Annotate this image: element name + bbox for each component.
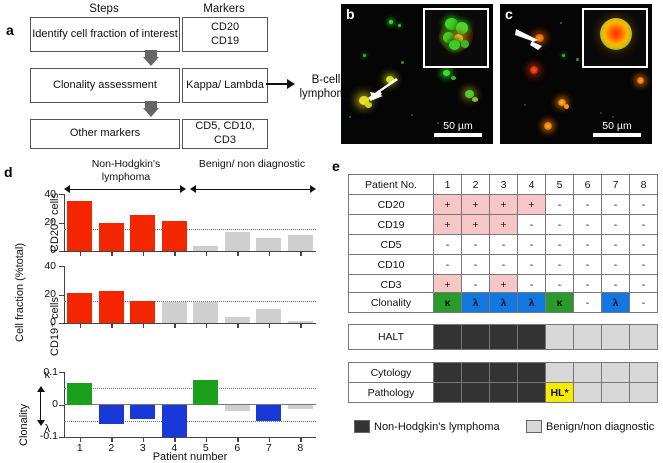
cytology-row-label: Cytology bbox=[349, 363, 434, 383]
marker-cell: - bbox=[574, 195, 602, 215]
panel-b-scalebar: 50 µm bbox=[431, 121, 485, 138]
ytick-clonality-top: 0.1 bbox=[30, 367, 58, 378]
bar bbox=[67, 383, 92, 405]
marker-cell: - bbox=[630, 195, 658, 215]
xtick bbox=[237, 324, 238, 328]
xtick bbox=[143, 324, 144, 328]
cell-dot bbox=[612, 116, 614, 118]
cell-dot bbox=[524, 104, 526, 106]
clonality-cell: - bbox=[630, 293, 658, 313]
cell-dot bbox=[451, 76, 456, 80]
legend-label-benign: Benign/non diagnostic bbox=[546, 421, 654, 433]
marker-cell: - bbox=[574, 235, 602, 255]
chart-clonality: Clonality κ λ 0.1 0 -0.1 12345678 Patien… bbox=[0, 364, 330, 461]
legend-swatch-benign bbox=[526, 420, 542, 433]
ytick-clonality-zero: 0 bbox=[30, 399, 58, 410]
marker-cell: - bbox=[546, 195, 574, 215]
panel-e-table: e Patient No.12345678CD20++++----CD19+++… bbox=[330, 152, 663, 461]
xtick bbox=[206, 252, 207, 256]
ytick-clonality-bottom: -0.1 bbox=[24, 431, 58, 442]
ytick-cd19-0: 0 bbox=[28, 317, 56, 328]
chart-cd20: CD20⁺ cells 40 20 0 bbox=[0, 152, 330, 262]
marker-table: Patient No.12345678CD20++++----CD19+++--… bbox=[348, 174, 658, 295]
flow-step-box-2: Clonality assessment bbox=[30, 68, 180, 103]
column-header-markers: Markers bbox=[182, 3, 266, 15]
panel-d-charts: d Non-Hodgkin's lymphoma Benign/ non dia… bbox=[0, 152, 330, 461]
panel-c-scalebar-label: 50 µm bbox=[590, 121, 644, 132]
marker-cell: - bbox=[518, 215, 546, 235]
halt-table: HALT bbox=[348, 324, 658, 350]
flow-step-box-1: Identify cell fraction of interest bbox=[30, 17, 180, 52]
xtick bbox=[269, 252, 270, 256]
marker-cell: - bbox=[518, 255, 546, 275]
flow-marker-text-1: CD20 CD19 bbox=[211, 21, 239, 49]
threshold-line-kappa bbox=[64, 388, 316, 389]
bar bbox=[67, 293, 92, 323]
bar bbox=[193, 380, 218, 405]
bar bbox=[162, 405, 187, 437]
pathology-cell bbox=[602, 383, 630, 403]
table-header-row: Patient No.12345678 bbox=[349, 175, 658, 195]
marker-row-cd5-label: CD5 bbox=[349, 235, 434, 255]
bar bbox=[67, 201, 92, 251]
bar bbox=[130, 405, 155, 419]
marker-cell: - bbox=[574, 215, 602, 235]
clonality-cell: λ bbox=[490, 293, 518, 313]
bar bbox=[130, 215, 155, 251]
patient-number-cell: 7 bbox=[602, 175, 630, 195]
cytology-pathology-table: CytologyPathologyHL* bbox=[348, 362, 658, 403]
xtick bbox=[237, 252, 238, 256]
cell-dot bbox=[363, 54, 366, 57]
marker-cell: + bbox=[462, 195, 490, 215]
xtick bbox=[300, 324, 301, 328]
marker-cell: - bbox=[630, 235, 658, 255]
marker-cell: - bbox=[602, 255, 630, 275]
bar bbox=[256, 238, 281, 251]
clonality-cell: κ bbox=[546, 293, 574, 313]
cell-dot bbox=[530, 66, 538, 74]
halt-cell bbox=[546, 325, 574, 350]
marker-cell: - bbox=[462, 255, 490, 275]
panel-b-scalebar-label: 50 µm bbox=[431, 121, 485, 132]
flow-step-text-1: Identify cell fraction of interest bbox=[32, 28, 178, 42]
bar bbox=[99, 291, 124, 323]
pathology-cell: HL* bbox=[546, 383, 574, 403]
bar bbox=[193, 246, 218, 251]
marker-row-cd5: CD5-------- bbox=[349, 235, 658, 255]
cytology-cell bbox=[434, 363, 462, 383]
pathology-row-label: Pathology bbox=[349, 383, 434, 403]
marker-row-cd10-label: CD10 bbox=[349, 255, 434, 275]
clonality-table: Clonalityκλλλκ-λ- bbox=[348, 292, 658, 313]
panel-e-label: e bbox=[332, 158, 340, 174]
cell-dot bbox=[349, 116, 351, 118]
panel-b-micrograph: b 50 µm bbox=[341, 4, 493, 144]
cell-dot bbox=[443, 70, 450, 76]
marker-cell: - bbox=[602, 215, 630, 235]
xtick bbox=[300, 252, 301, 256]
marker-cell: - bbox=[630, 215, 658, 235]
ytick-cd20-0: 0 bbox=[28, 245, 56, 256]
pathology-row: PathologyHL* bbox=[349, 383, 658, 403]
marker-cell: + bbox=[434, 195, 462, 215]
marker-cell: - bbox=[546, 215, 574, 235]
marker-cell: - bbox=[518, 235, 546, 255]
pathology-cell bbox=[518, 383, 546, 403]
table-header-row-label: Patient No. bbox=[349, 175, 434, 195]
xaxis-label-patient-number: Patient number bbox=[64, 452, 316, 463]
chart-cd19: CD19⁺ cells 40 20 0 bbox=[0, 258, 330, 364]
clonality-cell: κ bbox=[434, 293, 462, 313]
cell-dot bbox=[564, 104, 569, 109]
marker-row-cd10: CD10-------- bbox=[349, 255, 658, 275]
legend-benign: Benign/non diagnostic bbox=[526, 420, 654, 433]
column-header-steps: Steps bbox=[30, 3, 178, 15]
marker-row-cd20: CD20++++---- bbox=[349, 195, 658, 215]
cytology-cell bbox=[546, 363, 574, 383]
halt-cell bbox=[434, 325, 462, 350]
cell-dot bbox=[600, 112, 602, 114]
marker-cell: - bbox=[546, 255, 574, 275]
cell-dot bbox=[560, 22, 562, 24]
patient-number-cell: 1 bbox=[434, 175, 462, 195]
flow-marker-box-1: CD20 CD19 bbox=[182, 17, 268, 52]
bar bbox=[288, 235, 313, 251]
ytick-cd20-40: 40 bbox=[28, 189, 56, 200]
marker-cell: - bbox=[546, 235, 574, 255]
marker-cell: - bbox=[602, 235, 630, 255]
marker-cell: + bbox=[490, 195, 518, 215]
clonality-row-label: Clonality bbox=[349, 293, 434, 313]
halt-cell bbox=[462, 325, 490, 350]
patient-number-cell: 5 bbox=[546, 175, 574, 195]
marker-cell: + bbox=[434, 215, 462, 235]
panel-c-inset bbox=[582, 8, 648, 68]
bar bbox=[256, 405, 281, 421]
clonality-row: Clonalityκλλλκ-λ- bbox=[349, 293, 658, 313]
bar bbox=[288, 321, 313, 323]
marker-cell: + bbox=[490, 215, 518, 235]
ytick-cd20-20: 20 bbox=[28, 217, 56, 228]
xtick bbox=[143, 252, 144, 256]
flow-step-text-3: Other markers bbox=[70, 127, 140, 141]
xtick bbox=[174, 324, 175, 328]
cell-dot bbox=[389, 20, 393, 24]
flow-step-text-2: Clonality assessment bbox=[53, 79, 157, 93]
cytology-row: Cytology bbox=[349, 363, 658, 383]
pathology-cell bbox=[630, 383, 658, 403]
xtick bbox=[80, 324, 81, 328]
ytick-cd19-20: 20 bbox=[28, 289, 56, 300]
flow-marker-text-3: CD5, CD10, CD3 bbox=[183, 120, 267, 148]
ytick-cd19-40: 40 bbox=[28, 261, 56, 272]
marker-cell: - bbox=[434, 255, 462, 275]
marker-cell: - bbox=[462, 235, 490, 255]
marker-row-cd20-label: CD20 bbox=[349, 195, 434, 215]
flow-marker-text-2: Kappa/ Lambda bbox=[186, 79, 264, 93]
marker-cell: + bbox=[518, 195, 546, 215]
clonality-cell: λ bbox=[462, 293, 490, 313]
patient-number-cell: 3 bbox=[490, 175, 518, 195]
xtick bbox=[206, 324, 207, 328]
clonality-cell: - bbox=[574, 293, 602, 313]
bar bbox=[99, 223, 124, 251]
xtick bbox=[174, 252, 175, 256]
bar bbox=[193, 302, 218, 323]
flow-marker-box-2: Kappa/ Lambda bbox=[182, 68, 268, 103]
pointer-arrow-icon bbox=[514, 26, 544, 50]
halt-cell bbox=[574, 325, 602, 350]
marker-cell: + bbox=[462, 215, 490, 235]
cytology-cell bbox=[574, 363, 602, 383]
patient-number-cell: 2 bbox=[462, 175, 490, 195]
bar bbox=[256, 309, 281, 323]
xtick bbox=[80, 252, 81, 256]
halt-row-label: HALT bbox=[349, 325, 434, 350]
clonality-cell: λ bbox=[602, 293, 630, 313]
marker-row-cd19-label: CD19 bbox=[349, 215, 434, 235]
pathology-cell bbox=[490, 383, 518, 403]
cytology-cell bbox=[518, 363, 546, 383]
pointer-arrow-icon bbox=[365, 76, 399, 102]
patient-number-cell: 6 bbox=[574, 175, 602, 195]
cell-dot bbox=[365, 102, 372, 108]
marker-cell: - bbox=[574, 255, 602, 275]
marker-cell: - bbox=[602, 195, 630, 215]
halt-cell bbox=[602, 325, 630, 350]
marker-row-cd19: CD19+++----- bbox=[349, 215, 658, 235]
patient-number-cell: 8 bbox=[630, 175, 658, 195]
clonality-cell: λ bbox=[518, 293, 546, 313]
marker-cell: - bbox=[630, 255, 658, 275]
flow-marker-box-3: CD5, CD10, CD3 bbox=[182, 119, 268, 149]
halt-cell bbox=[490, 325, 518, 350]
halt-cell bbox=[630, 325, 658, 350]
bar bbox=[162, 302, 187, 323]
panel-c-label: c bbox=[505, 6, 513, 22]
bar bbox=[130, 301, 155, 323]
bar bbox=[162, 221, 187, 251]
cell-dot bbox=[637, 77, 644, 84]
marker-cell: - bbox=[434, 235, 462, 255]
cell-dot bbox=[401, 61, 404, 64]
pathology-cell bbox=[462, 383, 490, 403]
cytology-cell bbox=[630, 363, 658, 383]
halt-row: HALT bbox=[349, 325, 658, 350]
xtick bbox=[111, 324, 112, 328]
panel-c-scalebar: 50 µm bbox=[590, 121, 644, 138]
marker-cell: - bbox=[490, 255, 518, 275]
legend-nhl: Non-Hodgkin's lymphoma bbox=[354, 420, 500, 433]
panel-c-micrograph: c 50 µm bbox=[500, 4, 652, 144]
cytology-cell bbox=[490, 363, 518, 383]
flow-step-box-3: Other markers bbox=[30, 119, 180, 149]
cell-dot bbox=[472, 97, 478, 102]
pathology-cell bbox=[574, 383, 602, 403]
bar bbox=[225, 405, 250, 411]
cytology-cell bbox=[602, 363, 630, 383]
panel-b-inset bbox=[423, 8, 489, 68]
cell-dot bbox=[411, 114, 413, 116]
cell-dot bbox=[576, 58, 579, 61]
pathology-cell bbox=[434, 383, 462, 403]
bar bbox=[99, 405, 124, 424]
bar bbox=[225, 232, 250, 251]
bar bbox=[288, 405, 313, 409]
xtick bbox=[269, 324, 270, 328]
panel-a-flowchart: a Steps Markers Identify cell fraction o… bbox=[0, 0, 330, 152]
halt-cell bbox=[518, 325, 546, 350]
legend-label-nhl: Non-Hodgkin's lymphoma bbox=[374, 421, 500, 433]
cytology-cell bbox=[462, 363, 490, 383]
cell-dot bbox=[562, 54, 565, 57]
bar bbox=[225, 317, 250, 323]
legend-swatch-nhl bbox=[354, 420, 370, 433]
xtick bbox=[111, 252, 112, 256]
cell-dot bbox=[544, 122, 552, 130]
panel-a-label: a bbox=[6, 22, 14, 38]
panel-b-label: b bbox=[346, 6, 355, 22]
cell-dot bbox=[398, 24, 401, 27]
marker-cell: - bbox=[490, 235, 518, 255]
patient-number-cell: 4 bbox=[518, 175, 546, 195]
